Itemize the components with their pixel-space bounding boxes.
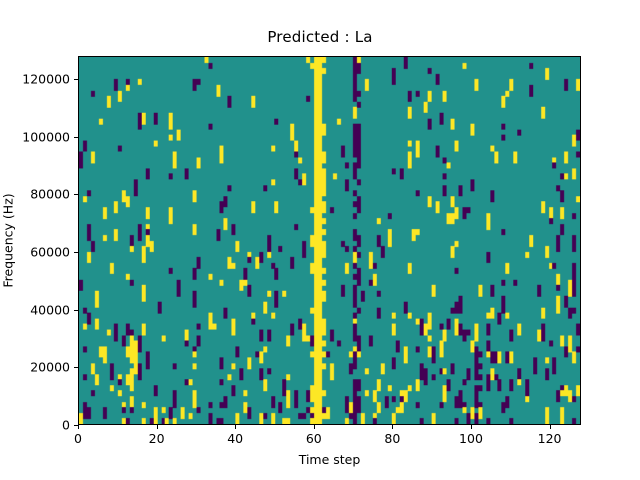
x-tick-label: 120 [538, 431, 562, 446]
y-tick [74, 137, 78, 138]
heatmap-axes [78, 56, 581, 425]
y-tick [74, 252, 78, 253]
x-tick-label: 80 [384, 431, 400, 446]
figure: Predicted : La 020406080100120 020000400… [0, 0, 640, 480]
y-tick-label: 0 [62, 418, 70, 433]
x-tick [78, 425, 79, 429]
x-tick-label: 60 [306, 431, 322, 446]
y-tick-label: 60000 [30, 245, 70, 260]
x-tick [392, 425, 393, 429]
y-tick [74, 79, 78, 80]
y-axis-label: Frequency (Hz) [0, 56, 16, 425]
y-tick [74, 194, 78, 195]
x-tick-label: 20 [149, 431, 165, 446]
y-tick-label: 40000 [30, 302, 70, 317]
y-tick-label: 120000 [22, 72, 70, 87]
heatmap-canvas [79, 57, 580, 424]
x-tick [314, 425, 315, 429]
chart-title: Predicted : La [0, 28, 640, 46]
x-axis-label: Time step [78, 452, 581, 467]
y-tick [74, 425, 78, 426]
x-tick [235, 425, 236, 429]
y-tick [74, 367, 78, 368]
y-axis-label-text: Frequency (Hz) [1, 193, 16, 287]
x-tick-label: 0 [74, 431, 82, 446]
y-tick [74, 310, 78, 311]
x-tick [157, 425, 158, 429]
y-tick-label: 100000 [22, 129, 70, 144]
x-tick [471, 425, 472, 429]
x-tick-label: 40 [227, 431, 243, 446]
x-tick-label: 100 [459, 431, 483, 446]
y-tick-label: 80000 [30, 187, 70, 202]
y-tick-label: 20000 [30, 360, 70, 375]
x-tick [550, 425, 551, 429]
